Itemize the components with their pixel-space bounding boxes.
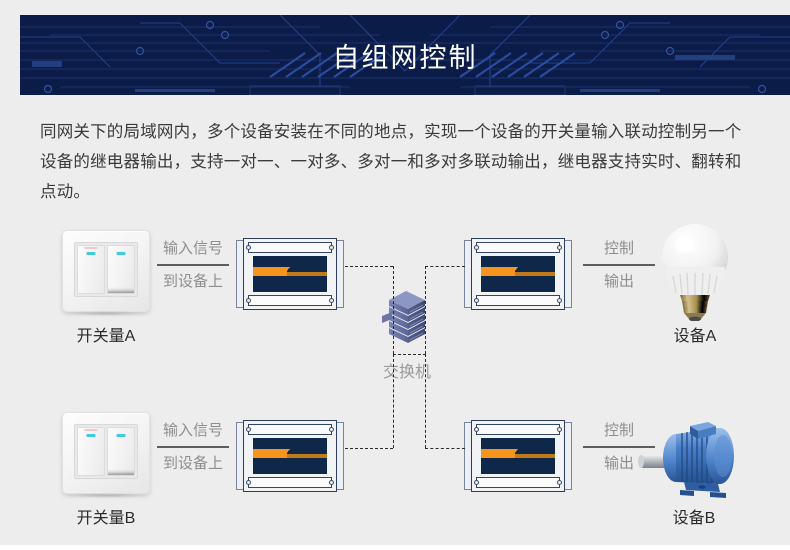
caption-input-a: 开关量A (58, 322, 154, 346)
connector-dash-vert-right (425, 266, 426, 354)
device-bottom-bar (248, 477, 332, 488)
connector-dash-bottom-right (425, 448, 465, 449)
controller-module-icon-output-b (464, 420, 572, 492)
device-signal-step (511, 267, 518, 276)
device-screw (329, 245, 334, 250)
connector-dash-vert-right-lower (425, 354, 426, 448)
motor-graphic (634, 408, 754, 504)
network-node-label: 交换机 (362, 358, 452, 382)
device-bottom-bar (476, 477, 560, 488)
description-text: 同网关下的局域网内，多个设备安装在不同的地点，实现一个设备的开关量输入联动控制另… (40, 117, 756, 207)
product-infographic-page: 自组网控制 同网关下的局域网内，多个设备安装在不同的地点，实现一个设备的开关量输… (0, 0, 790, 545)
switch-inner-frame (74, 242, 138, 297)
device-panel (253, 256, 327, 292)
rocker-notch (85, 429, 98, 431)
switch-rocker-left (77, 245, 105, 294)
caption-output-b: 设备B (634, 504, 754, 528)
device-top-bar (476, 424, 560, 435)
switch-drop-shadow (66, 493, 146, 498)
device-screw (474, 298, 479, 303)
device-body (243, 238, 337, 310)
input-signal-label-b: 输入信号 到设备上 (155, 418, 231, 476)
label-line-1: 输入信号 (155, 418, 231, 443)
connector-dash-top-left (345, 266, 393, 267)
device-screw (557, 298, 562, 303)
caption-output-a: 设备A (640, 322, 750, 346)
network-diagram: 开关量A 输入信号 到设备上 (0, 210, 790, 545)
header-banner: 自组网控制 (20, 15, 790, 95)
device-panel (253, 438, 327, 474)
rocker-led-indicator (117, 252, 126, 255)
controller-module-icon-input-b (236, 420, 344, 492)
switch-plate (62, 412, 150, 494)
device-top-bar (248, 242, 332, 253)
input-signal-label-a: 输入信号 到设备上 (155, 236, 231, 294)
device-body (243, 420, 337, 492)
rocker-led-indicator (117, 434, 126, 437)
label-line-2: 到设备上 (155, 269, 231, 294)
device-panel (481, 438, 555, 474)
switch-rocker-right (107, 245, 135, 294)
switch-drop-shadow (66, 311, 146, 316)
switch-rocker-right (107, 427, 135, 476)
device-screw (557, 427, 562, 432)
connector-dash-vert-left (393, 266, 394, 354)
device-screw (246, 480, 251, 485)
electric-motor-icon (634, 408, 744, 508)
caption-input-b: 开关量B (58, 504, 154, 528)
diagram-row-b: 开关量B 输入信号 到设备上 (0, 400, 790, 550)
controller-module-icon-output-a (464, 238, 572, 310)
device-screw (474, 245, 479, 250)
device-screw (474, 427, 479, 432)
device-bottom-bar (248, 295, 332, 306)
connector-dash-bus (393, 354, 426, 355)
device-screw (329, 298, 334, 303)
device-body (471, 420, 565, 492)
device-body (471, 238, 565, 310)
wall-switch-icon (62, 230, 150, 312)
device-signal-step (511, 449, 518, 458)
label-line-2: 到设备上 (155, 451, 231, 476)
label-divider (157, 446, 229, 448)
label-divider (157, 264, 229, 266)
switch-rocker-left (77, 427, 105, 476)
label-line-1: 输入信号 (155, 236, 231, 261)
rocker-led-indicator (87, 434, 96, 437)
connector-dash-top-right (425, 266, 465, 267)
bulb-graphic (640, 221, 750, 321)
device-signal-step (283, 449, 290, 458)
connector-dash-vert-left-lower (393, 354, 394, 448)
switch-inner-frame (74, 424, 138, 479)
rocker-led-indicator (87, 252, 96, 255)
light-bulb-icon (640, 221, 750, 321)
device-screw (329, 480, 334, 485)
device-top-bar (248, 424, 332, 435)
device-panel (481, 256, 555, 292)
wall-switch-icon (62, 412, 150, 494)
device-signal-step (283, 267, 290, 276)
device-bottom-bar (476, 295, 560, 306)
switch-plate (62, 230, 150, 312)
device-screw (246, 298, 251, 303)
device-screw (474, 480, 479, 485)
device-screw (557, 480, 562, 485)
device-screw (246, 427, 251, 432)
device-top-bar (476, 242, 560, 253)
device-screw (246, 245, 251, 250)
device-screw (329, 427, 334, 432)
connector-dash-bottom-left (345, 448, 393, 449)
controller-module-icon-input-a (236, 238, 344, 310)
device-screw (557, 245, 562, 250)
rocker-notch (85, 247, 98, 249)
page-title: 自组网控制 (20, 15, 790, 95)
